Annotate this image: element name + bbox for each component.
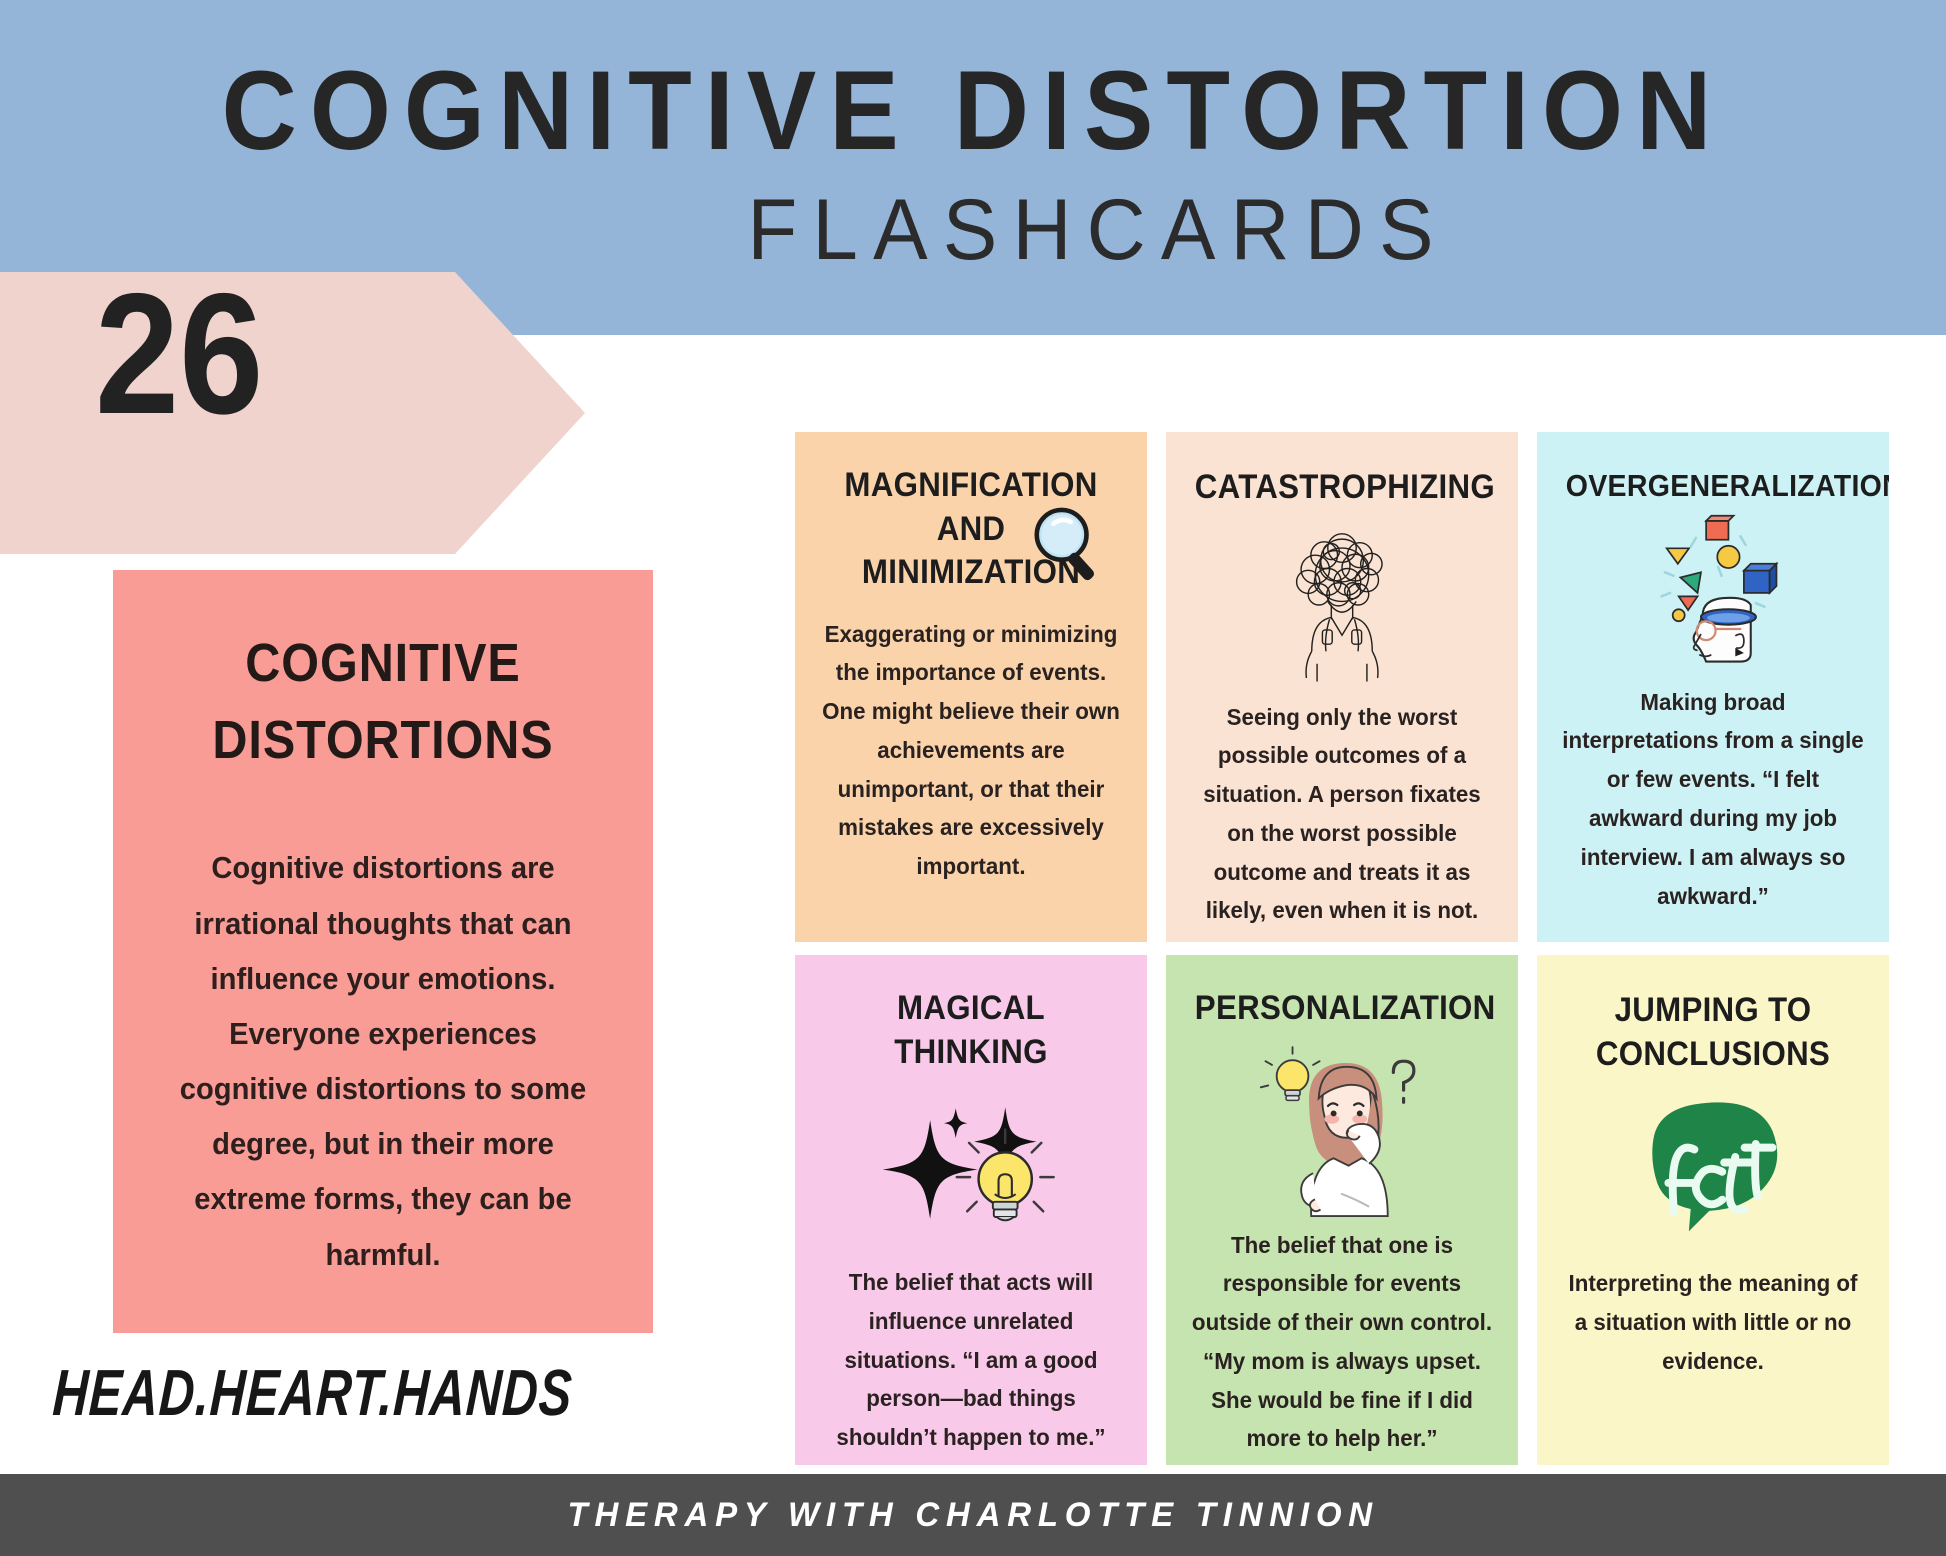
fact-speech-bubble-icon — [1553, 1090, 1873, 1248]
intro-card-body: Cognitive distortions are irrational tho… — [163, 840, 603, 1281]
thinking-woman-icon — [1182, 1033, 1502, 1220]
flashcard-personalization[interactable]: PERSONALIZATION — [1166, 955, 1518, 1465]
intro-card-title: COGNITIVE DISTORTIONS — [165, 625, 601, 778]
flashcard-overgeneralization[interactable]: OVERGENERALIZATION — [1537, 432, 1889, 942]
flashcard-body: Seeing only the worst possible outcomes … — [1190, 698, 1494, 931]
flashcard-magical-thinking[interactable]: MAGICAL THINKING — [795, 955, 1147, 1465]
flashcard-title: JUMPING TO CONCLUSIONS — [1566, 989, 1860, 1076]
flashcard-title: MAGICAL THINKING — [824, 987, 1118, 1074]
flashcard-title: CATASTROPHIZING — [1195, 466, 1489, 510]
flashcard-jumping-to-conclusions[interactable]: JUMPING TO CONCLUSIONS Interpreting th — [1537, 955, 1889, 1465]
flashcard-magnification-minimization[interactable]: MAGNIFICATION AND MINIMIZATION Exaggerat… — [795, 432, 1147, 942]
flashcard-body: Interpreting the meaning of a situation … — [1561, 1264, 1865, 1380]
infographic-page: COGNITIVE DISTORTION FLASHCARDS 26 COGNI… — [0, 0, 1946, 1556]
count-number: 26 — [95, 268, 263, 440]
magnifying-glass-icon — [1023, 498, 1115, 590]
footer-bar: THERAPY WITH CHARLOTTE TINNION — [0, 1474, 1946, 1556]
flashcard-body: Exaggerating or minimizing the importanc… — [819, 615, 1123, 886]
brand-logo: HEAD.HEART.HANDS — [51, 1355, 574, 1431]
intro-card: COGNITIVE DISTORTIONS Cognitive distorti… — [113, 570, 653, 1333]
lightbulb-sparkles-icon — [811, 1084, 1131, 1255]
flashcard-title: PERSONALIZATION — [1195, 987, 1489, 1031]
flashcard-title: OVERGENERALIZATION — [1566, 466, 1860, 506]
flashcard-body: Making broad interpretations from a sing… — [1561, 683, 1865, 916]
flashcard-grid: MAGNIFICATION AND MINIMIZATION Exaggerat… — [795, 432, 1890, 1464]
page-title: COGNITIVE DISTORTION — [68, 52, 1878, 170]
flashcard-body: The belief that one is responsible for e… — [1190, 1226, 1494, 1459]
scribble-head-person-icon — [1182, 516, 1502, 694]
footer-text: THERAPY WITH CHARLOTTE TINNION — [567, 1496, 1378, 1535]
page-subtitle: FLASHCARDS — [292, 185, 1903, 275]
flashcard-body: The belief that acts will influence unre… — [819, 1263, 1123, 1457]
open-head-shapes-icon — [1553, 514, 1873, 677]
flashcard-catastrophizing[interactable]: CATASTROPHIZING — [1166, 432, 1518, 942]
